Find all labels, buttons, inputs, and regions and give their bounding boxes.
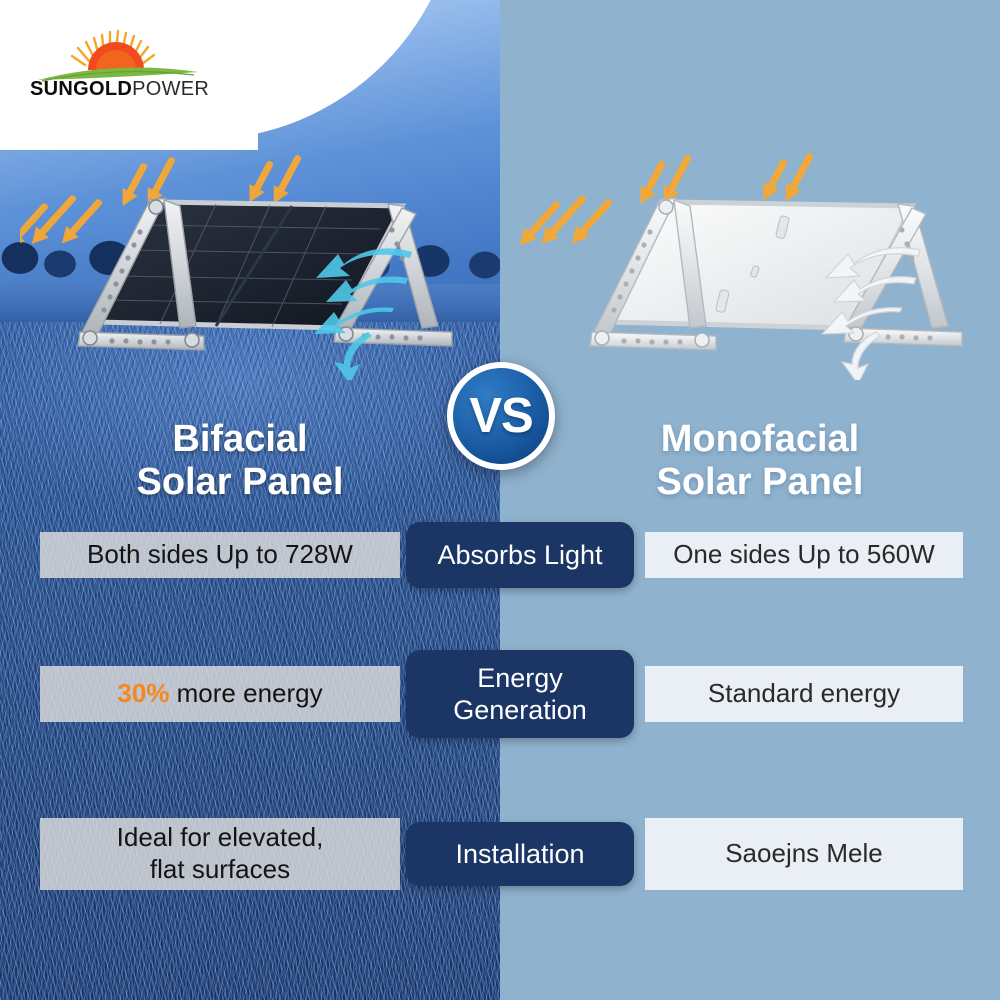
vs-badge: VS xyxy=(447,362,555,470)
table-row: Ideal for elevated,flat surfaces Install… xyxy=(0,808,1000,898)
row-label-pill: Installation xyxy=(406,822,634,886)
row-label-text: Absorbs Light xyxy=(437,539,602,571)
right-value-box: Standard energy xyxy=(645,666,963,722)
left-value-text: Both sides Up to 728W xyxy=(87,539,353,571)
left-value-box: Ideal for elevated,flat surfaces xyxy=(40,818,400,890)
right-value-text: One sides Up to 560W xyxy=(673,539,935,571)
right-value-box: Saoejns Mele xyxy=(645,818,963,890)
row-label-line1: Energy xyxy=(477,663,563,693)
row-label-pill: Absorbs Light xyxy=(406,522,634,588)
right-value-text: Saoejns Mele xyxy=(725,838,883,870)
infographic-canvas: SUNGOLDPOWER xyxy=(0,0,1000,1000)
table-row: Both sides Up to 728W Absorbs Light One … xyxy=(0,522,1000,590)
right-value-box: One sides Up to 560W xyxy=(645,532,963,578)
left-value-text: more energy xyxy=(169,678,322,708)
row-label-pill: EnergyGeneration xyxy=(406,650,634,738)
row-label-line2: Generation xyxy=(453,695,587,725)
table-row: 30% more energy EnergyGeneration Standar… xyxy=(0,650,1000,740)
comparison-table: Both sides Up to 728W Absorbs Light One … xyxy=(0,0,1000,1000)
left-value-line1: Ideal for elevated, xyxy=(117,822,324,852)
right-value-text: Standard energy xyxy=(708,678,900,710)
left-value-line2: flat surfaces xyxy=(150,854,290,884)
left-value-box: 30% more energy xyxy=(40,666,400,722)
left-value-box: Both sides Up to 728W xyxy=(40,532,400,578)
row-label-text: Installation xyxy=(455,838,584,870)
vs-badge-label: VS xyxy=(469,388,532,444)
energy-percent-highlight: 30% xyxy=(117,678,169,708)
